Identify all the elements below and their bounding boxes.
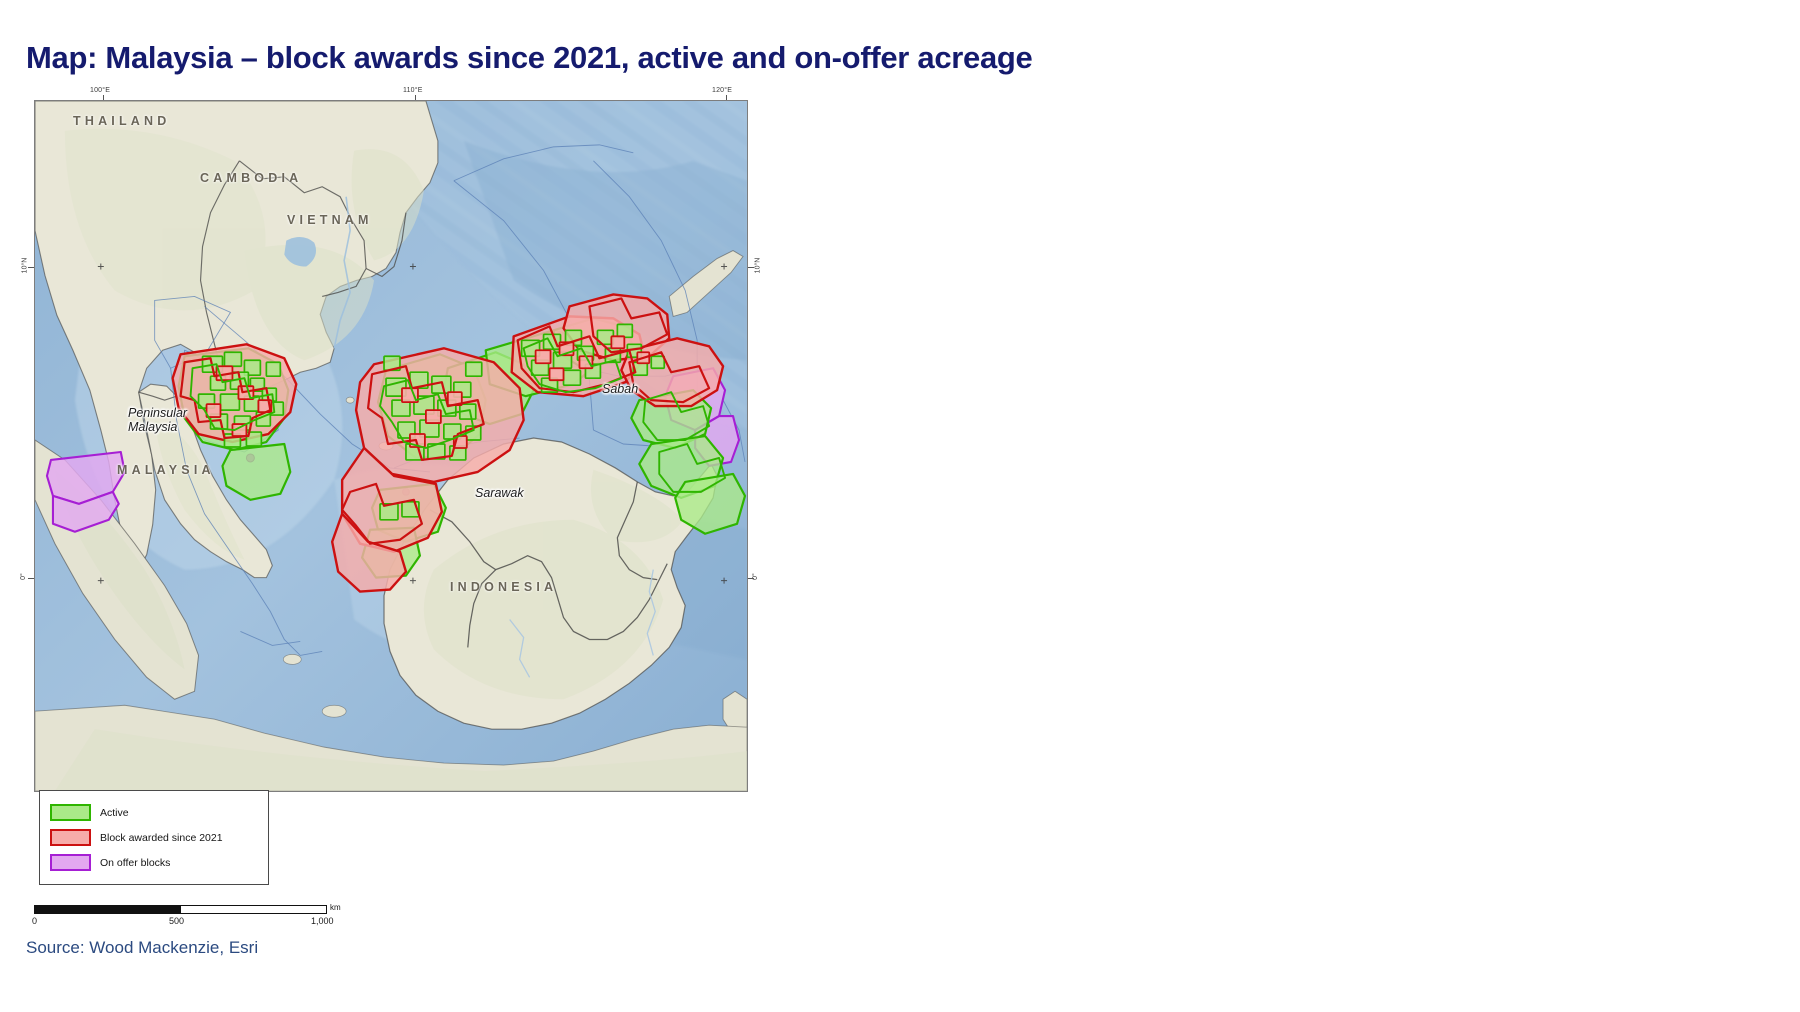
scalebar-unit: km xyxy=(330,903,341,912)
map-scalebar: km 0 500 1,000 xyxy=(34,905,354,935)
lat-tick-right-0 xyxy=(748,578,754,579)
legend-item-active[interactable]: Active xyxy=(50,800,258,825)
legend-label-on-offer: On offer blocks xyxy=(100,857,170,869)
map-page: Map: Malaysia – block awards since 2021,… xyxy=(0,0,1800,1012)
source-caption: Source: Wood Mackenzie, Esri xyxy=(26,938,258,958)
scalebar-track xyxy=(34,905,327,914)
lat-label-right-10n: 10°N xyxy=(754,258,761,274)
map-canvas[interactable] xyxy=(35,101,747,791)
lon-label-100e: 100°E xyxy=(90,87,110,94)
scalebar-tick-1000: 1,000 xyxy=(311,916,334,926)
legend-item-awarded[interactable]: Block awarded since 2021 xyxy=(50,825,258,850)
lat-tick-right-10n xyxy=(748,267,754,268)
map-legend: Active Block awarded since 2021 On offer… xyxy=(39,790,269,885)
legend-swatch-on-offer xyxy=(50,854,91,871)
lat-label-left-10n: 10°N xyxy=(21,258,28,274)
scalebar-tick-0: 0 xyxy=(32,916,37,926)
map-viewport[interactable]: THAILAND CAMBODIA VIETNAM MALAYSIA INDON… xyxy=(34,100,748,792)
lon-label-110e: 110°E xyxy=(403,87,423,94)
page-title: Map: Malaysia – block awards since 2021,… xyxy=(26,40,1033,76)
legend-swatch-active xyxy=(50,804,91,821)
legend-label-active: Active xyxy=(100,807,129,819)
legend-label-awarded: Block awarded since 2021 xyxy=(100,832,223,844)
scalebar-fill xyxy=(35,906,181,913)
scalebar-tick-500: 500 xyxy=(169,916,184,926)
lat-label-left-0: 0° xyxy=(20,573,27,580)
lon-label-120e: 120°E xyxy=(712,87,732,94)
legend-swatch-awarded xyxy=(50,829,91,846)
legend-item-on-offer[interactable]: On offer blocks xyxy=(50,850,258,875)
